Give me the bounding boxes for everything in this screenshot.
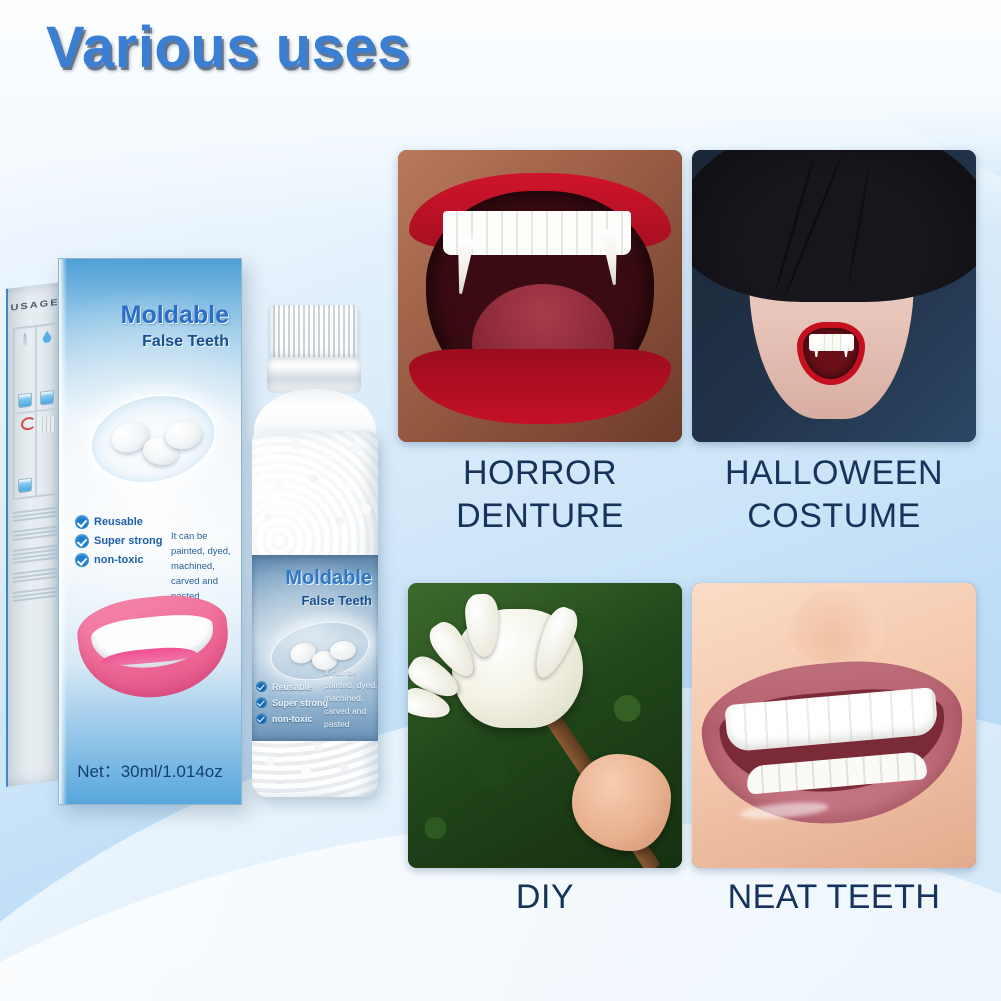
box-feature-list: Reusable Super strong non-toxic xyxy=(75,515,167,572)
bottle-description: It can be painted, dyed, machined, carve… xyxy=(324,666,378,731)
side-panel-fine-print xyxy=(13,505,57,611)
check-icon xyxy=(256,681,267,692)
cup-of-water-icon xyxy=(18,393,32,409)
usage-step-1 xyxy=(14,326,36,414)
caption-halloween-costume: HALLOWEEN COSTUME xyxy=(692,452,976,538)
fine-print-paragraph xyxy=(13,507,57,522)
box-brand-subtitle: False Teeth xyxy=(59,333,229,351)
feature-label: non-toxic xyxy=(94,554,144,566)
usage-step-4 xyxy=(36,408,58,496)
usage-label: USAGE xyxy=(8,297,62,313)
stir-arrow-icon xyxy=(21,416,36,431)
bottle-label: Moldable False Teeth Reusable Super xyxy=(252,555,378,741)
smiling-mouth-graphic xyxy=(79,597,229,697)
feature-item: Super strong xyxy=(75,534,167,548)
feature-label: Super strong xyxy=(94,535,162,547)
caption-diy: DIY xyxy=(408,876,682,919)
lower-teeth-row xyxy=(746,751,927,794)
tweezers-icon xyxy=(20,333,30,346)
fang-icon xyxy=(812,335,820,357)
gallery-tile-horror-denture xyxy=(398,150,682,442)
bottle-feature-list: Reusable Super strong non-toxic xyxy=(256,681,320,729)
bottle-neck xyxy=(267,357,361,393)
net-weight-label: Net：30ml/1.014oz xyxy=(59,757,241,782)
bottle-body: Moldable False Teeth Reusable Super xyxy=(252,431,378,797)
box-pellet-illustration xyxy=(81,377,221,497)
fine-print-paragraph xyxy=(13,526,57,541)
feature-item: Reusable xyxy=(256,681,320,692)
page-title: Various uses xyxy=(46,14,410,81)
check-icon xyxy=(256,697,267,708)
bottle-brand-subtitle: False Teeth xyxy=(301,593,372,608)
lip-gloss-highlight xyxy=(740,799,830,821)
product-marketing-image: Various uses USAGE xyxy=(0,0,1001,1001)
gallery-tile-neat-teeth xyxy=(692,583,976,868)
check-icon xyxy=(75,515,89,529)
bottle-cap xyxy=(270,305,358,361)
product-box-front: Moldable False Teeth Reusable Super stro… xyxy=(58,258,242,805)
usage-icon-grid xyxy=(13,322,59,500)
check-icon xyxy=(75,553,89,567)
product-bottle: Moldable False Teeth Reusable Super xyxy=(246,305,384,805)
fine-print-paragraph xyxy=(13,568,57,583)
feature-label: Super strong xyxy=(272,698,328,708)
feature-item: non-toxic xyxy=(75,553,167,567)
caption-horror-denture: HORROR DENTURE xyxy=(398,452,682,538)
open-mouth-red-lips xyxy=(803,328,859,379)
water-drop-icon xyxy=(43,330,52,343)
fang-icon xyxy=(842,335,850,357)
teeth-icon xyxy=(39,416,55,434)
check-icon xyxy=(75,534,89,548)
fine-print-paragraph xyxy=(13,545,57,564)
box-brand-name: Moldable xyxy=(59,301,229,330)
product-box: USAGE xyxy=(6,258,256,803)
box-description: It can be painted, dyed, machined, carve… xyxy=(171,529,241,604)
feature-label: non-toxic xyxy=(272,714,313,724)
cup-of-water-icon xyxy=(18,478,32,494)
fine-print-paragraph xyxy=(13,587,57,602)
gallery-tile-halloween-costume xyxy=(692,150,976,442)
usage-step-3 xyxy=(14,411,36,499)
mouth-cavity xyxy=(718,682,950,800)
feature-label: Reusable xyxy=(272,682,312,692)
upper-teeth-row xyxy=(725,686,940,752)
usage-step-2 xyxy=(36,323,58,411)
cup-of-water-icon xyxy=(40,390,54,406)
caption-neat-teeth: NEAT TEETH xyxy=(692,876,976,919)
feature-item: non-toxic xyxy=(256,713,320,724)
product-box-side-panel: USAGE xyxy=(6,282,62,787)
feature-item: Reusable xyxy=(75,515,167,529)
bottle-brand-name: Moldable xyxy=(285,567,372,590)
teeth-row xyxy=(809,334,854,351)
gallery-tile-diy xyxy=(408,583,682,868)
check-icon xyxy=(256,713,267,724)
feature-label: Reusable xyxy=(94,516,143,528)
feature-item: Super strong xyxy=(256,697,320,708)
